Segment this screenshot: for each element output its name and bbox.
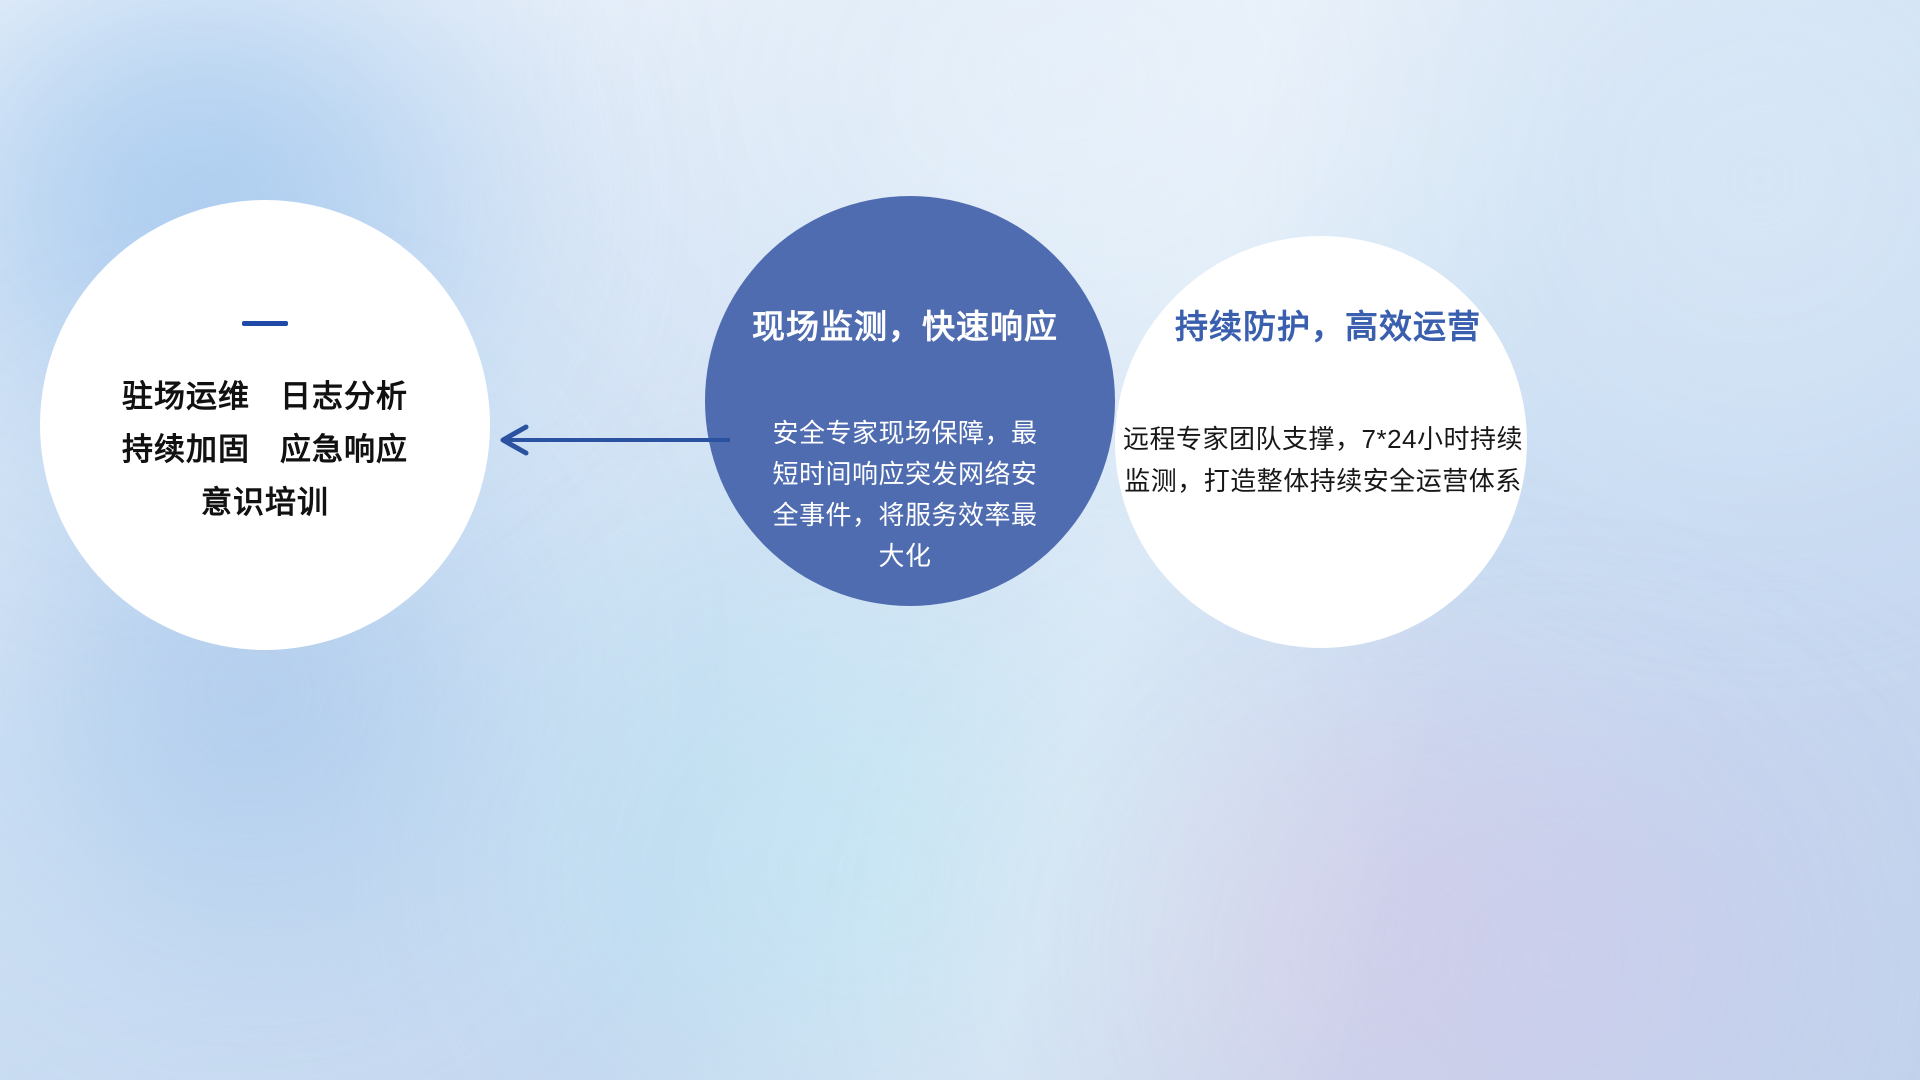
middle-circle-body: 安全专家现场保障，最短时间响应突发网络安全事件，将服务效率最大化 [760,413,1050,577]
left-circle-keywords: 驻场运维日志分析 持续加固应急响应 意识培训 [122,370,408,530]
keyword-item: 持续加固 [122,432,250,467]
keyword-row: 意识培训 [122,476,408,529]
keyword-row: 持续加固应急响应 [122,423,408,476]
keyword-item: 应急响应 [280,432,408,467]
slide-canvas: 驻场运维日志分析 持续加固应急响应 意识培训 现场监测，快速响应 安全专家现场保… [0,0,1920,1080]
right-circle-body: 远程专家团队支撑，7*24小时持续监测，打造整体持续安全运营体系 [1118,418,1528,502]
keyword-item: 日志分析 [280,379,408,414]
keyword-row: 驻场运维日志分析 [122,370,408,423]
left-arrow-icon [492,420,732,460]
keyword-item: 意识培训 [201,485,329,520]
middle-circle-title: 现场监测，快速响应 [700,300,1110,348]
left-circle: 驻场运维日志分析 持续加固应急响应 意识培训 [40,200,490,650]
divider-dash-icon [242,321,288,326]
keyword-item: 驻场运维 [122,379,250,414]
right-circle-title: 持续防护，高效运营 [1128,300,1528,348]
